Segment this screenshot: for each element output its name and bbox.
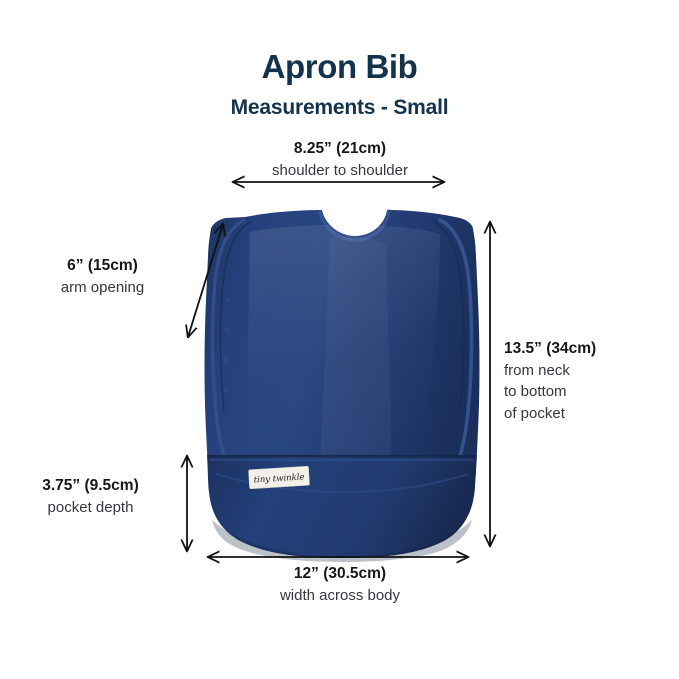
- snap-button: [224, 388, 229, 393]
- measurement-value: 13.5” (34cm): [504, 338, 674, 360]
- measurement-value: 12” (30.5cm): [180, 563, 500, 585]
- measurement-description-line: to bottom: [504, 381, 674, 402]
- measurement-description: width across body: [180, 585, 500, 606]
- snap-button: [224, 327, 229, 332]
- measurement-description: pocket depth: [8, 497, 173, 518]
- fabric-shading: [320, 236, 392, 470]
- measurement-pocket-depth: 3.75” (9.5cm) pocket depth: [8, 475, 173, 518]
- measurement-value: 8.25” (21cm): [180, 138, 500, 160]
- diagram-stage: Apron Bib Measurements - Small: [0, 0, 679, 679]
- snap-button: [225, 297, 230, 302]
- measurement-width-across-body: 12” (30.5cm) width across body: [180, 563, 500, 606]
- measurement-value: 6” (15cm): [20, 255, 185, 277]
- snap-button: [223, 357, 228, 362]
- measurement-description: shoulder to shoulder: [180, 160, 500, 181]
- bib-garment: tiny twinkle: [198, 208, 487, 562]
- measurement-description: arm opening: [20, 277, 185, 298]
- brand-label: tiny twinkle: [249, 466, 310, 489]
- measurement-shoulder-to-shoulder: 8.25” (21cm) shoulder to shoulder: [180, 138, 500, 181]
- measurement-neck-to-pocket: 13.5” (34cm) from neck to bottom of pock…: [504, 338, 674, 424]
- measurement-description-line: from neck: [504, 360, 674, 381]
- measurement-value: 3.75” (9.5cm): [8, 475, 173, 497]
- measurement-description-line: of pocket: [504, 403, 674, 424]
- measurement-arm-opening: 6” (15cm) arm opening: [20, 255, 185, 298]
